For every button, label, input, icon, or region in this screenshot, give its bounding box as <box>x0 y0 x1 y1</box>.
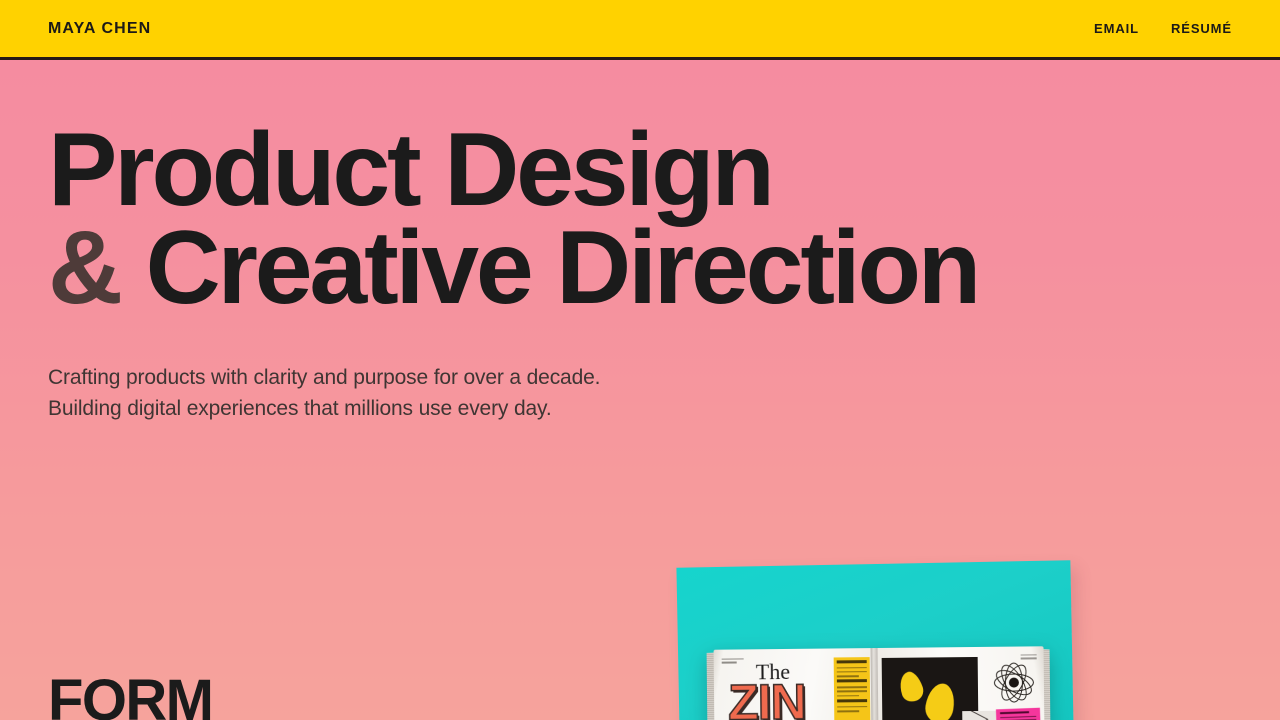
brand-logo[interactable]: MAYA CHEN <box>48 20 151 38</box>
hero-subtitle-line-2: Building digital experiences that millio… <box>48 393 1232 425</box>
magazine-right-page <box>874 646 1045 720</box>
headline-ampersand: & <box>48 210 120 326</box>
hero-section: Product Design & Creative Direction Craf… <box>0 60 1280 425</box>
headline-line-2: Creative Direction <box>146 210 979 326</box>
open-magazine-book: The ZIN <box>714 646 1045 720</box>
atom-diagram-icon <box>992 660 1036 704</box>
nav-link-email[interactable]: EMAIL <box>1094 21 1139 36</box>
hero-subtitle: Crafting products with clarity and purpo… <box>48 362 1232 426</box>
page-title: Product Design & Creative Direction <box>48 122 1232 318</box>
left-page-header-lines <box>722 658 744 665</box>
magazine-left-page: The ZIN <box>714 648 875 720</box>
yellow-pear-shape-a <box>896 669 926 704</box>
hero-subtitle-line-1: Crafting products with clarity and purpo… <box>48 362 1232 394</box>
sketch-thumbnail <box>962 711 996 720</box>
right-page-folio-lines <box>1021 654 1037 661</box>
yellow-pear-shape-b <box>923 681 957 720</box>
top-navbar: MAYA CHEN EMAIL RÉSUMÉ <box>0 0 1280 60</box>
nav-links-group: EMAIL RÉSUMÉ <box>1094 21 1232 36</box>
magazine-title-zin: ZIN <box>728 677 806 720</box>
nav-link-resume[interactable]: RÉSUMÉ <box>1171 21 1232 36</box>
magazine-photo: The ZIN <box>662 548 1102 720</box>
book-spine <box>871 648 879 720</box>
magazine-yellow-sidebar <box>834 657 871 720</box>
magenta-sticky-note <box>996 708 1041 720</box>
section-heading-form: FORM <box>48 672 212 720</box>
